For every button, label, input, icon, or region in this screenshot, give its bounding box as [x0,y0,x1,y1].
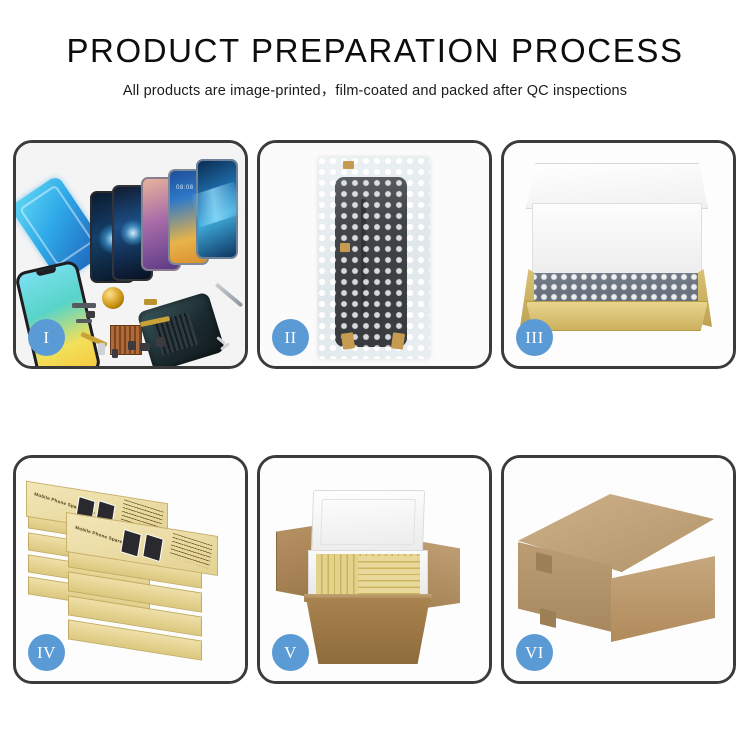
tape-strip [343,161,354,169]
spare-part-graphic [144,299,157,305]
step-badge-5: V [272,634,309,671]
tweezers-icon [215,283,244,308]
tape-strip [340,243,350,252]
bubble-wrap-bag [318,157,430,359]
tape-strip [391,332,405,350]
spare-part-graphic [156,337,165,347]
bubble-wrap-layer [530,273,700,303]
phone-status-text: 08:08 [176,185,194,191]
step-badge-4: IV [28,634,65,671]
bubble-texture-overlay [318,157,430,359]
page-title: PRODUCT PREPARATION PROCESS [0,34,750,69]
process-step-panel-1: 08:08 I [13,140,248,369]
phone-screen-graphic-e [196,159,238,259]
process-step-panel-2: II [257,140,492,369]
carton-handle-tab [536,552,552,574]
step-badge-3: III [516,319,553,356]
packed-boxes-row [358,556,420,594]
process-step-panel-3: III [501,140,736,369]
process-step-panel-5: V [257,455,492,684]
spare-part-graphic [128,341,136,350]
process-step-panel-4: Mobile Phone Spare Parts Mobile Phone Sp… [13,455,248,684]
tape-strip [341,332,355,350]
spare-part-graphic [86,311,95,318]
product-preparation-infographic: PRODUCT PREPARATION PROCESS All products… [0,0,750,750]
spare-part-graphic [76,319,92,323]
box-front-panel [526,301,708,331]
header: PRODUCT PREPARATION PROCESS All products… [0,0,750,100]
step-badge-6: VI [516,634,553,671]
process-step-panel-6: VI [501,455,736,684]
carton-body [306,598,430,664]
box-checklist-lines [169,533,212,569]
box-screen-image [142,533,164,562]
foam-box-lid [311,490,425,554]
speaker-coil-graphic [102,287,124,309]
box-screen-image [120,529,142,558]
page-subtitle: All products are image-printed，film-coat… [0,79,750,100]
spare-part-graphic [72,303,96,308]
spare-part-graphic [140,343,150,351]
carton-handle-tab [540,608,556,628]
step-badge-1: I [28,319,65,356]
spare-part-graphic [112,349,118,358]
foam-sheet [532,203,702,277]
process-step-grid: 08:08 I [13,140,737,684]
spare-part-graphic [98,343,105,355]
step-badge-2: II [272,319,309,356]
